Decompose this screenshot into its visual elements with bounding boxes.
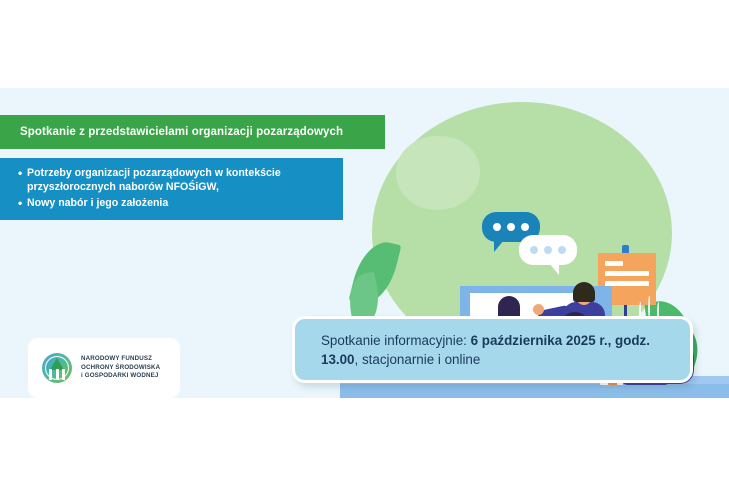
bullet-marker: • [18,196,27,210]
bubble-dot [493,223,501,231]
info-prefix: Spotkanie informacyjnie: [321,333,471,348]
presenter-hair [573,282,595,302]
emblem-bar [49,369,52,380]
logo-line-3: i GOSPODARKI WODNEJ [81,372,160,380]
bubble-dot [558,246,566,254]
page-canvas: Spotkanie z przedstawicielami organizacj… [0,0,729,486]
speech-bubble-white-icon [519,235,577,265]
banner-bullet-band: • Potrzeby organizacji pozarządowych w k… [0,158,343,220]
bubble-dot [521,223,529,231]
meeting-info-text: Spotkanie informacyjnie: 6 października … [321,331,664,369]
note-line [605,261,623,266]
emblem-bar [62,369,65,380]
bubble-dot [530,246,538,254]
steam-icon [648,296,652,318]
logo-line-2: OCHRONY ŚRODOWISKA [81,364,160,372]
note-line [605,271,649,276]
bubble-dot [544,246,552,254]
presenter-hand [533,304,544,315]
nfosigw-emblem-icon [42,353,72,383]
info-suffix: , stacjonarnie i online [355,352,481,367]
banner-title: Spotkanie z przedstawicielami organizacj… [0,126,343,138]
banner-title-band: Spotkanie z przedstawicielami organizacj… [0,115,385,149]
bullet-item: • Potrzeby organizacji pozarządowych w k… [18,166,333,194]
green-background-circle-small [396,136,480,210]
nfosigw-logo-text: NARODOWY FUNDUSZ OCHRONY ŚRODOWISKA i GO… [81,355,160,380]
bullet-item-label: Nowy nabór i jego założenia [27,196,333,210]
bubble-dot [507,223,515,231]
promo-banner: Spotkanie z przedstawicielami organizacj… [0,88,729,398]
nfosigw-logo-card: NARODOWY FUNDUSZ OCHRONY ŚRODOWISKA i GO… [28,338,180,398]
bullet-marker: • [18,166,27,180]
meeting-info-callout: Spotkanie informacyjnie: 6 października … [292,316,693,383]
bullet-item-label: Potrzeby organizacji pozarządowych w kon… [27,166,333,194]
floor-band [340,384,729,398]
emblem-bar [56,369,59,380]
logo-line-1: NARODOWY FUNDUSZ [81,355,160,363]
bullet-item: • Nowy nabór i jego założenia [18,196,333,210]
